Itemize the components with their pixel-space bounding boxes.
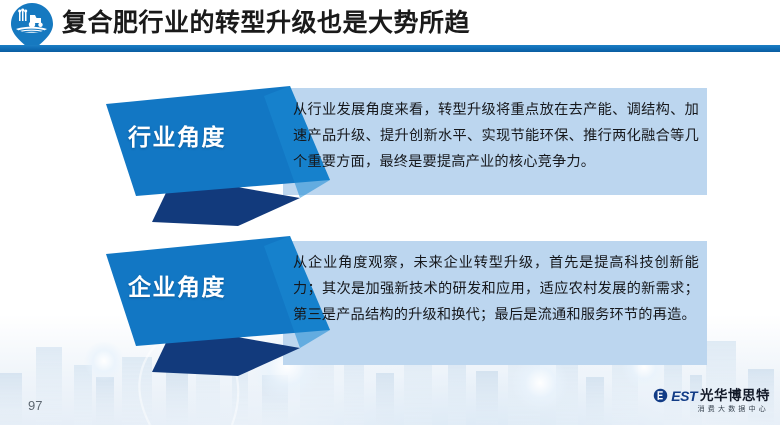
tab-shape-enterprise: [0, 0, 780, 425]
tab-label-enterprise: 企业角度: [128, 268, 226, 302]
content-block-enterprise: 企业角度 从企业角度观察，未来企业转型升级，首先是提高科技创新能力；其次是加强新…: [0, 0, 780, 425]
brand-chinese-text: 光华博思特: [700, 389, 770, 403]
brand-subtitle: 消费大数据中心: [698, 405, 769, 414]
page-number: 97: [28, 398, 42, 413]
brand-latin-text: EST: [671, 389, 697, 403]
best-b-mark-icon: [653, 388, 668, 403]
brand-logo-row: EST 光华博思特: [653, 388, 770, 403]
brand-logo: EST 光华博思特 消费大数据中心: [653, 387, 770, 415]
block-body-enterprise: 从企业角度观察，未来企业转型升级，首先是提高科技创新能力；其次是加强新技术的研发…: [293, 250, 699, 328]
slide: 复合肥行业的转型升级也是大势所趋 行业角度 从行业发展角度来看，转型升级将重点放…: [0, 0, 780, 425]
